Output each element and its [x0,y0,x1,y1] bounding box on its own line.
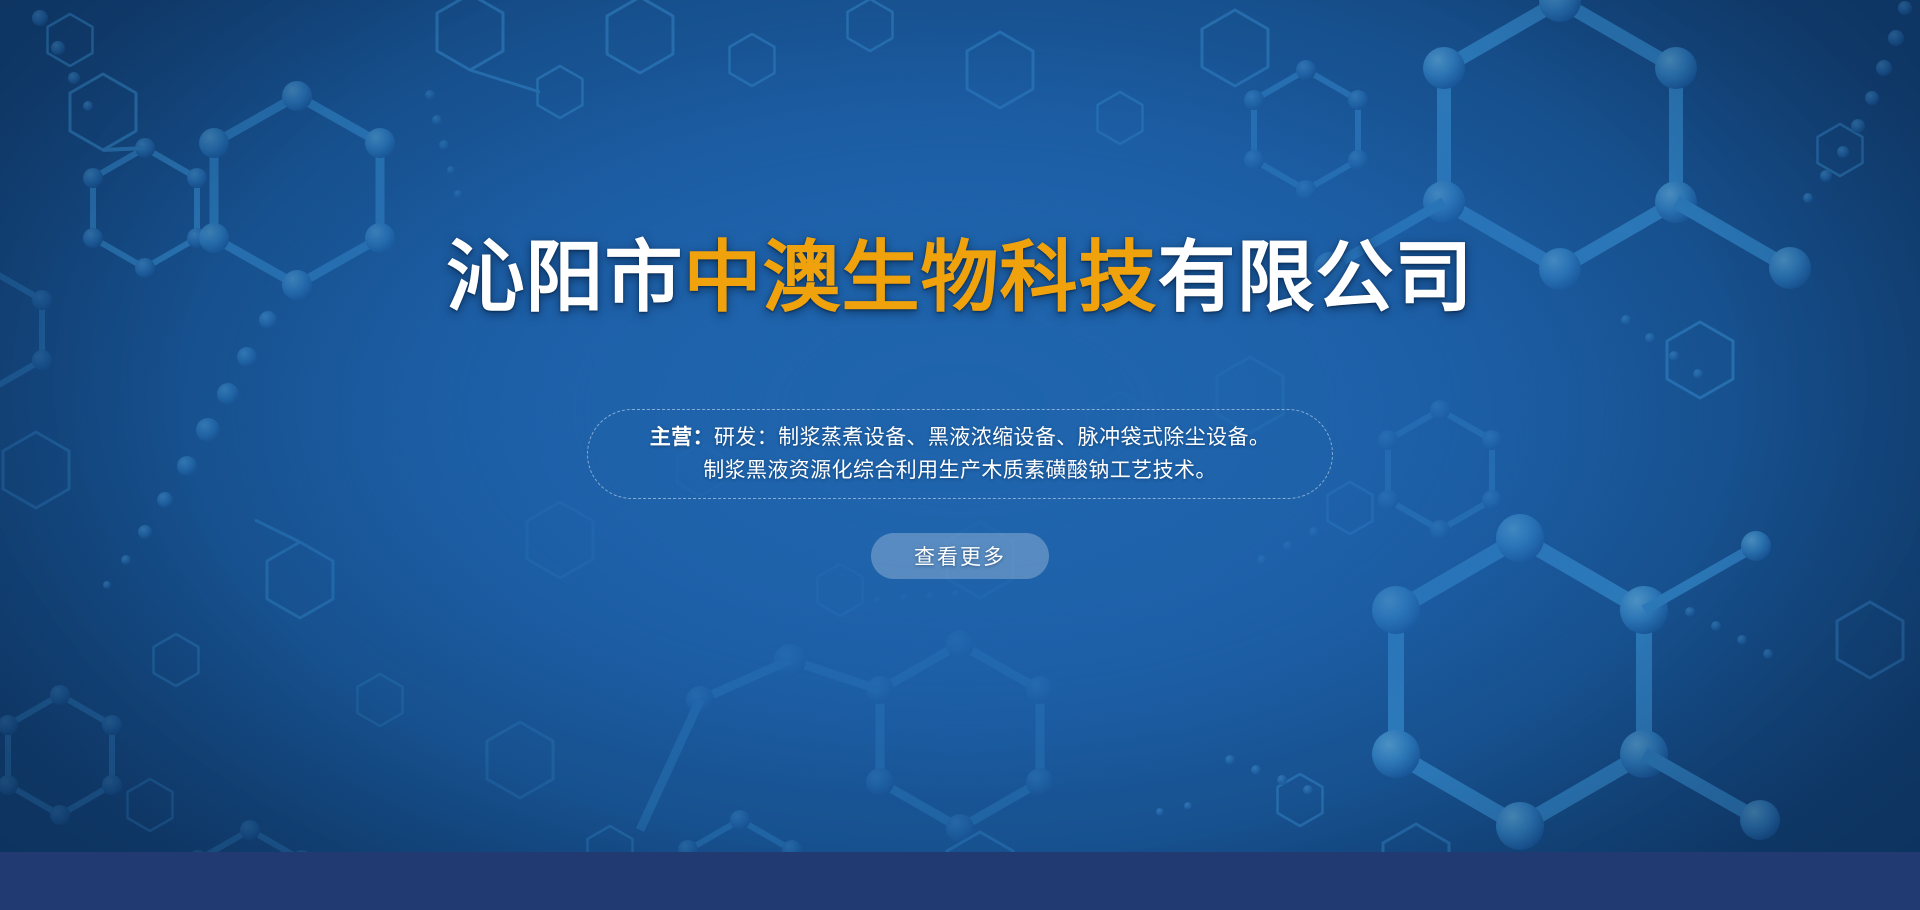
page-title-suffix: 有限公司 [1158,233,1474,321]
tagline-box: 主营：研发：制浆蒸煮设备、黑液浓缩设备、脉冲袋式除尘设备。 制浆黑液资源化综合利… [587,409,1333,499]
view-more-button[interactable]: 查看更多 [871,533,1049,579]
banner-content: 沁阳市中澳生物科技有限公司 主营：研发：制浆蒸煮设备、黑液浓缩设备、脉冲袋式除尘… [0,0,1920,852]
page-title-prefix: 沁阳市 [446,233,683,321]
page-title-accent: 中澳生物科技 [683,233,1157,321]
banner-stage: 沁阳市中澳生物科技有限公司 主营：研发：制浆蒸煮设备、黑液浓缩设备、脉冲袋式除尘… [0,0,1920,910]
tagline-line-1-text: 研发：制浆蒸煮设备、黑液浓缩设备、脉冲袋式除尘设备。 [714,426,1270,449]
bottom-bar [0,852,1920,910]
tagline-lead: 主营： [650,426,714,449]
page-title: 沁阳市中澳生物科技有限公司 [446,238,1473,316]
tagline-line-2: 制浆黑液资源化综合利用生产木质素磺酸钠工艺技术。 [703,454,1217,487]
tagline-line-1: 主营：研发：制浆蒸煮设备、黑液浓缩设备、脉冲袋式除尘设备。 [650,421,1271,454]
